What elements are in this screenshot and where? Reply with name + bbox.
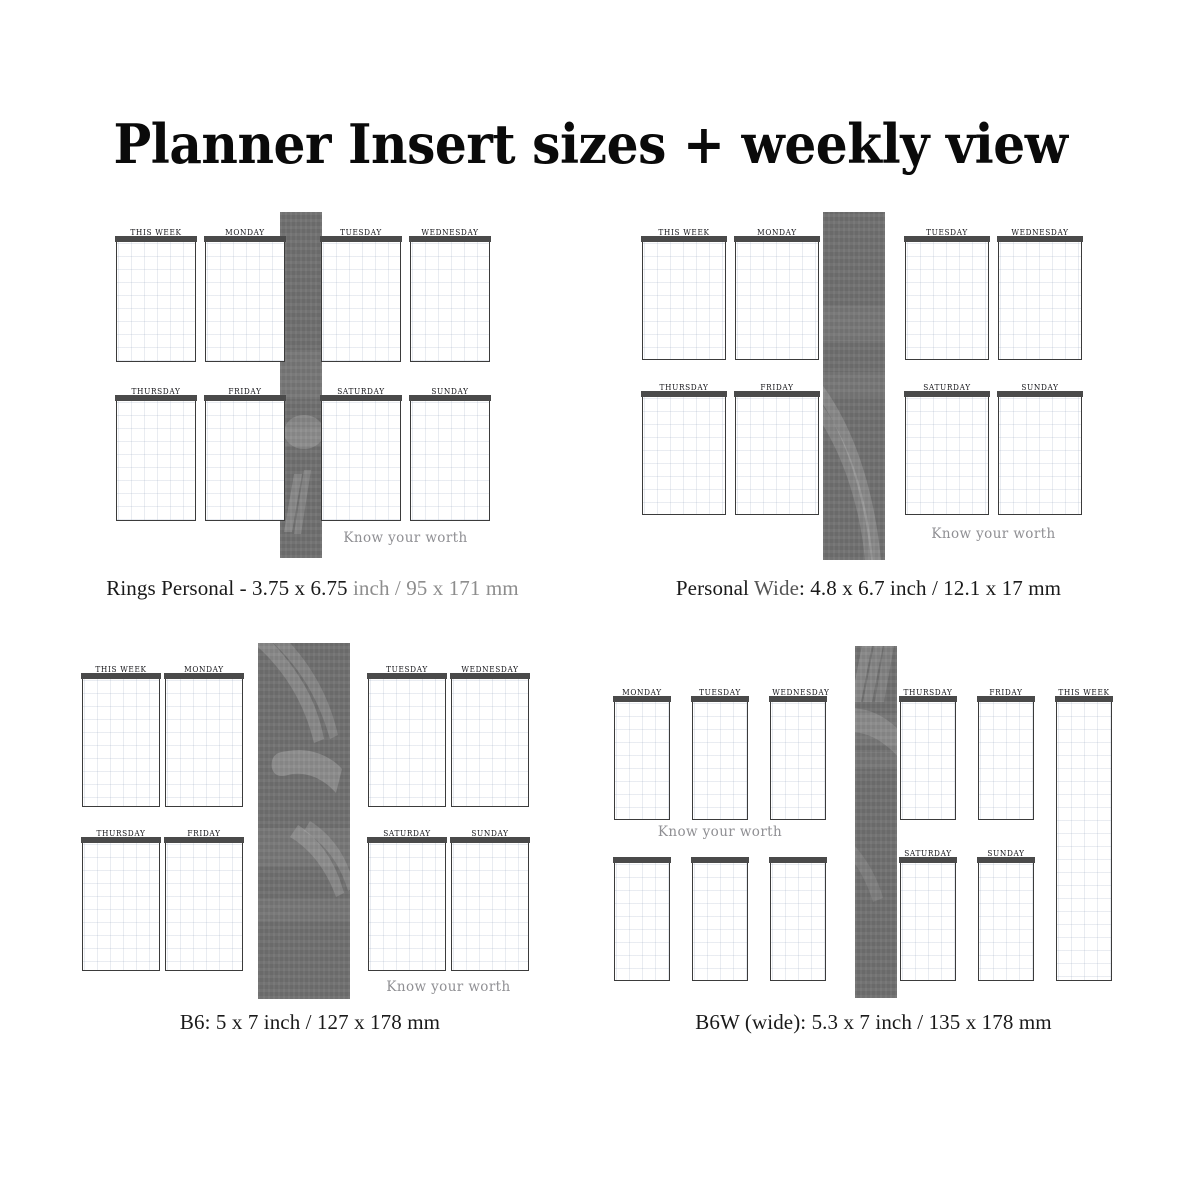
caption-part-mid: Wide <box>754 576 799 600</box>
planner-card[interactable] <box>770 863 826 981</box>
section-b6w: MONDAY TUESDAY WEDNESDAY THURSDAY FRIDAY… <box>612 688 1112 988</box>
planner-card[interactable] <box>410 242 490 362</box>
planner-card[interactable] <box>642 242 726 360</box>
caption-b6: B6: 5 x 7 inch / 127 x 178 mm <box>0 1010 620 1035</box>
card-header-bar <box>81 837 160 843</box>
card-header-bar <box>204 236 285 242</box>
spine-graphic-rings-personal <box>280 212 322 558</box>
planner-card-this-week[interactable] <box>1056 702 1112 981</box>
tagline: Know your worth <box>905 526 1082 542</box>
card-header-bar <box>367 673 446 679</box>
planner-card[interactable] <box>614 702 670 820</box>
planner-card[interactable] <box>998 242 1082 360</box>
caption-b6w: B6W (wide): 5.3 x 7 inch / 135 x 178 mm <box>566 1010 1181 1035</box>
planner-card[interactable] <box>692 702 748 820</box>
card-header-bar <box>613 857 670 863</box>
card-header-bar <box>1055 696 1112 702</box>
planner-card[interactable] <box>905 242 989 360</box>
card-header-bar <box>997 391 1082 397</box>
card-header-bar <box>115 395 196 401</box>
card-header-bar <box>899 857 956 863</box>
card-header-bar <box>641 391 726 397</box>
section-rings-personal: THIS WEEK MONDAY TUESDAY WEDNESDAY THURS… <box>108 228 508 558</box>
planner-card[interactable] <box>321 242 401 362</box>
section-personal-wide: THIS WEEK MONDAY TUESDAY WEDNESDAY THURS… <box>636 228 1086 558</box>
section-b6: THIS WEEK MONDAY TUESDAY WEDNESDAY THURS… <box>80 665 530 995</box>
planner-card[interactable] <box>978 863 1034 981</box>
planner-card[interactable] <box>82 679 160 807</box>
planner-card[interactable] <box>900 702 956 820</box>
caption-part: Personal <box>676 576 754 600</box>
caption-rings-personal: Rings Personal - 3.75 x 6.75 inch / 95 x… <box>0 576 625 601</box>
tagline: Know your worth <box>368 979 529 995</box>
card-header-bar <box>977 857 1034 863</box>
caption-personal-wide: Personal Wide: 4.8 x 6.7 inch / 12.1 x 1… <box>556 576 1181 601</box>
card-header-bar <box>734 236 819 242</box>
planner-card[interactable] <box>165 843 243 971</box>
caption-part: B6W (wide): 5.3 x 7 inch / 135 x 178 mm <box>695 1010 1051 1034</box>
card-header-bar <box>204 395 285 401</box>
tagline: Know your worth <box>650 824 790 840</box>
card-header-bar <box>409 236 490 242</box>
card-header-bar <box>904 236 989 242</box>
planner-card[interactable] <box>368 843 446 971</box>
card-header-bar <box>613 696 670 702</box>
planner-card[interactable] <box>368 679 446 807</box>
spine-graphic-personal-wide <box>823 212 885 560</box>
planner-card[interactable] <box>116 401 196 521</box>
card-header-bar <box>164 837 243 843</box>
card-header-bar <box>320 236 401 242</box>
card-header-bar <box>164 673 243 679</box>
planner-card[interactable] <box>978 702 1034 820</box>
card-header-bar <box>641 236 726 242</box>
tagline: Know your worth <box>321 530 490 546</box>
card-header-bar <box>734 391 819 397</box>
page-title: Planner Insert sizes + weekly view <box>41 112 1139 176</box>
planner-card[interactable] <box>900 863 956 981</box>
planner-card[interactable] <box>998 397 1082 515</box>
planner-card[interactable] <box>116 242 196 362</box>
planner-card[interactable] <box>770 702 826 820</box>
card-header-bar <box>904 391 989 397</box>
spine-graphic-b6 <box>258 643 350 999</box>
planner-card[interactable] <box>82 843 160 971</box>
planner-card[interactable] <box>451 843 529 971</box>
card-header-bar <box>997 236 1082 242</box>
planner-card[interactable] <box>165 679 243 807</box>
planner-card[interactable] <box>905 397 989 515</box>
card-header-bar <box>769 696 826 702</box>
caption-part-dim: inch / 95 x 171 mm <box>353 576 519 600</box>
card-header-bar <box>367 837 446 843</box>
card-header-bar <box>115 236 196 242</box>
card-header-bar <box>450 837 529 843</box>
card-header-bar <box>691 857 748 863</box>
planner-card[interactable] <box>735 397 819 515</box>
caption-part: Rings Personal - 3.75 x 6.75 <box>106 576 353 600</box>
planner-card[interactable] <box>321 401 401 521</box>
card-header-bar <box>450 673 529 679</box>
planner-card[interactable] <box>692 863 748 981</box>
planner-card[interactable] <box>451 679 529 807</box>
card-header-bar <box>899 696 956 702</box>
card-header-bar <box>409 395 490 401</box>
card-header-bar <box>977 696 1034 702</box>
planner-card[interactable] <box>205 401 285 521</box>
card-header-bar <box>691 696 748 702</box>
card-header-bar <box>81 673 160 679</box>
planner-card[interactable] <box>410 401 490 521</box>
caption-part: B6: 5 x 7 inch / 127 x 178 mm <box>180 1010 440 1034</box>
card-header-bar <box>320 395 401 401</box>
planner-card[interactable] <box>205 242 285 362</box>
caption-part: : 4.8 x 6.7 inch / 12.1 x 17 mm <box>799 576 1061 600</box>
planner-card[interactable] <box>614 863 670 981</box>
planner-card[interactable] <box>735 242 819 360</box>
spine-graphic-b6w <box>855 646 897 998</box>
planner-card[interactable] <box>642 397 726 515</box>
card-header-bar <box>769 857 826 863</box>
